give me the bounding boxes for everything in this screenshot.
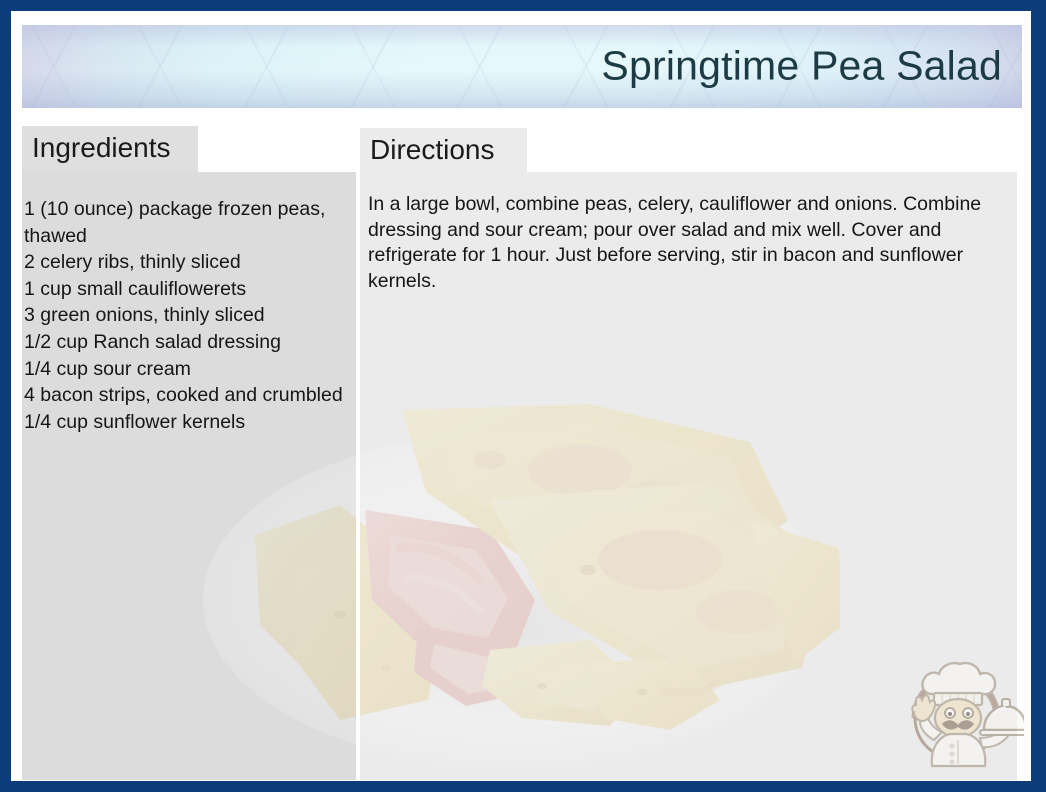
list-item: 4 bacon strips, cooked and crumbled bbox=[24, 382, 352, 409]
directions-text: In a large bowl, combine peas, celery, c… bbox=[368, 192, 1004, 294]
ingredients-tab-gap bbox=[198, 122, 356, 172]
page-title: Springtime Pea Salad bbox=[601, 42, 1002, 89]
directions-tab-gap bbox=[527, 124, 1019, 172]
list-item: 1/2 cup Ranch salad dressing bbox=[24, 329, 352, 356]
list-item: 1 cup small cauliflowerets bbox=[24, 276, 352, 303]
recipe-slide: Springtime Pea Salad bbox=[0, 0, 1046, 792]
list-item: 3 green onions, thinly sliced bbox=[24, 302, 352, 329]
list-item: 2 celery ribs, thinly sliced bbox=[24, 249, 352, 276]
list-item: 1/4 cup sour cream bbox=[24, 356, 352, 383]
title-banner: Springtime Pea Salad bbox=[22, 25, 1022, 108]
ingredients-list: 1 (10 ounce) package frozen peas, thawed… bbox=[24, 196, 352, 435]
slide-border-top bbox=[0, 0, 1046, 11]
list-item: 1/4 cup sunflower kernels bbox=[24, 409, 352, 436]
list-item: 1 (10 ounce) package frozen peas, thawed bbox=[24, 196, 352, 249]
slide-border-left bbox=[0, 0, 11, 792]
slide-border-bottom bbox=[0, 781, 1046, 792]
directions-heading: Directions bbox=[360, 128, 527, 174]
slide-border-right bbox=[1031, 0, 1046, 792]
panel-divider bbox=[356, 118, 360, 780]
ingredients-heading: Ingredients bbox=[22, 126, 198, 172]
